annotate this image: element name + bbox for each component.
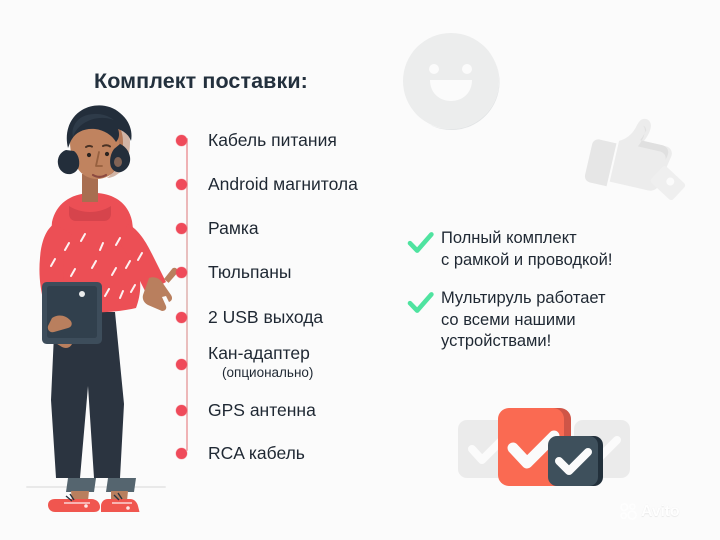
list-item-label: Тюльпаны [208, 262, 291, 282]
list-item: Кабель питания [176, 130, 337, 151]
avito-logo-icon [620, 503, 637, 520]
woman-pointing-illustration [8, 100, 186, 512]
benefit-item: Полный комплект с рамкой и проводкой! [407, 228, 697, 271]
list-item: RCA кабель [176, 443, 305, 464]
list-item: Рамка [176, 218, 259, 239]
benefit-line-2: с рамкой и проводкой! [441, 251, 612, 269]
list-item-sublabel: (опционально) [222, 365, 313, 380]
benefit-item: Мультируль работает со всеми нашими устр… [407, 288, 697, 353]
avito-watermark: Avito [620, 503, 679, 520]
green-check-icon [407, 289, 434, 316]
checkbox-cluster-icon [456, 404, 632, 496]
bullet-dot-icon [176, 267, 187, 278]
avito-wordmark: Avito [641, 503, 679, 520]
list-item-label: 2 USB выхода [208, 307, 323, 327]
benefit-line-2: со всеми нашими [441, 311, 576, 329]
benefit-text: Полный комплект с рамкой и проводкой! [441, 228, 612, 271]
list-item: Кан-адаптер (опционально) [176, 343, 313, 382]
bullet-dot-icon [176, 359, 187, 370]
list-item: Тюльпаны [176, 262, 291, 283]
thumbs-up-icon [572, 102, 690, 210]
list-item: 2 USB выхода [176, 307, 323, 328]
spec-list: Кабель питания Android магнитола Рамка Т… [176, 130, 446, 460]
benefit-line-1: Полный комплект [441, 229, 577, 247]
list-item-label: RCA кабель [208, 443, 305, 463]
bullet-dot-icon [176, 223, 187, 234]
list-item-label: Кан-адаптер [208, 343, 310, 363]
benefit-line-1: Мультируль работает [441, 289, 606, 307]
smiley-face-icon [401, 31, 501, 131]
list-item-label: Android магнитола [208, 174, 358, 194]
list-item: GPS антенна [176, 400, 316, 421]
list-item-label: Кабель питания [208, 130, 337, 150]
list-item: Android магнитола [176, 174, 358, 195]
page-title: Комплект поставки: [94, 69, 308, 94]
benefit-line-3: устройствами! [441, 332, 551, 350]
bullet-dot-icon [176, 135, 187, 146]
list-item-label: Рамка [208, 218, 259, 238]
benefit-text: Мультируль работает со всеми нашими устр… [441, 288, 606, 353]
bullet-dot-icon [176, 179, 187, 190]
bullet-dot-icon [176, 448, 187, 459]
poster-canvas: Комплект поставки: Кабель питания Androi… [0, 0, 720, 540]
bullet-dot-icon [176, 312, 187, 323]
green-check-icon [407, 229, 434, 256]
benefits-list: Полный комплект с рамкой и проводкой! Му… [407, 228, 697, 370]
list-item-label: GPS антенна [208, 400, 316, 420]
bullet-dot-icon [176, 405, 187, 416]
